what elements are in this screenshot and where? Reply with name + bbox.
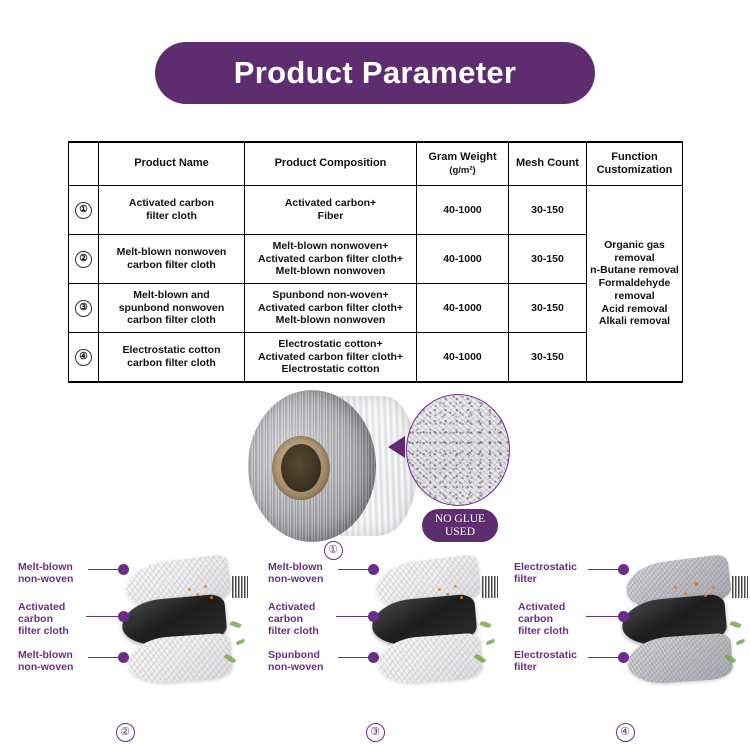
leader-dot-bottom-3 bbox=[368, 652, 379, 663]
cell-mesh-count-2: 30-150 bbox=[509, 235, 587, 284]
column-header-function-customization: Function Customization bbox=[587, 142, 683, 186]
roll-core-inner bbox=[281, 444, 321, 492]
leader-line-middle-2 bbox=[86, 616, 120, 617]
dust-particle bbox=[438, 588, 441, 591]
dust-particle bbox=[204, 585, 207, 588]
page-title: Product Parameter bbox=[234, 55, 516, 91]
dust-particle bbox=[454, 585, 457, 588]
label-bottom-4: Electrostatic filter bbox=[514, 650, 577, 674]
layer-diagram-4: Electrostatic filter Activated carbon fi… bbox=[500, 552, 750, 750]
layer-stack-2 bbox=[118, 560, 244, 682]
label-bottom-2: Melt-blown non-woven bbox=[18, 650, 73, 674]
dust-particle bbox=[694, 582, 698, 586]
leader-line-bottom-3 bbox=[338, 657, 370, 658]
label-middle-2: Activated carbon filter cloth bbox=[18, 602, 69, 637]
cell-mesh-count-1: 30-150 bbox=[509, 186, 587, 235]
column-header-product-name: Product Name bbox=[99, 142, 245, 186]
leader-dot-top-4 bbox=[618, 564, 629, 575]
diagram-caption-wrap-4: ④ bbox=[500, 722, 750, 742]
cell-mesh-count-3: 30-150 bbox=[509, 284, 587, 333]
layer-diagrams: Melt-blown non-woven Activated carbon fi… bbox=[0, 552, 750, 750]
dust-particle bbox=[712, 586, 715, 589]
cell-gram-weight-4: 40-1000 bbox=[417, 333, 509, 383]
title-banner-wrap: Product Parameter bbox=[0, 42, 750, 104]
dust-particle bbox=[684, 592, 687, 595]
table-header-row: Product Name Product Composition Gram We… bbox=[69, 142, 683, 186]
leaf-particle bbox=[729, 620, 741, 629]
leader-line-middle-4 bbox=[586, 616, 620, 617]
leaf-particle bbox=[236, 639, 246, 646]
row-index-3: ③ bbox=[69, 284, 99, 333]
cell-product-name-4: Electrostatic cotton carbon filter cloth bbox=[99, 333, 245, 383]
leader-dot-middle-3 bbox=[368, 611, 379, 622]
no-glue-line2: USED bbox=[445, 526, 475, 539]
cell-function-customization: Organic gas removal n-Butane removal For… bbox=[587, 186, 683, 383]
row-index-2: ② bbox=[69, 235, 99, 284]
cell-product-composition-3: Spunbond non-woven+ Activated carbon fil… bbox=[245, 284, 417, 333]
dust-particle bbox=[704, 594, 707, 597]
label-top-3: Melt-blown non-woven bbox=[268, 562, 323, 586]
magnifier-arrow-icon bbox=[388, 436, 405, 458]
dust-particle bbox=[188, 588, 191, 591]
label-top-2: Melt-blown non-woven bbox=[18, 562, 73, 586]
cell-product-composition-4: Electrostatic cotton+ Activated carbon f… bbox=[245, 333, 417, 383]
leader-dot-middle-2 bbox=[118, 611, 129, 622]
cell-product-name-1: Activated carbon filter cloth bbox=[99, 186, 245, 235]
product-photo-block: NO GLUE USED ① bbox=[0, 388, 750, 553]
cell-product-composition-2: Melt-blown nonwoven+ Activated carbon fi… bbox=[245, 235, 417, 284]
circled-number-4: ④ bbox=[75, 349, 92, 366]
layer-diagram-3: Melt-blown non-woven Activated carbon fi… bbox=[250, 552, 500, 750]
layer-stack-4 bbox=[618, 560, 744, 682]
column-header-index bbox=[69, 142, 99, 186]
title-banner: Product Parameter bbox=[155, 42, 595, 104]
label-middle-4: Activated carbon filter cloth bbox=[518, 602, 569, 637]
dust-particle bbox=[674, 586, 677, 589]
leaf-particle bbox=[229, 620, 241, 629]
layer-stack-3 bbox=[368, 560, 494, 682]
column-header-mesh-count: Mesh Count bbox=[509, 142, 587, 186]
diagram-caption-wrap-2: ② bbox=[0, 722, 250, 742]
row-index-4: ④ bbox=[69, 333, 99, 383]
cell-gram-weight-1: 40-1000 bbox=[417, 186, 509, 235]
leader-dot-middle-4 bbox=[618, 611, 629, 622]
cell-gram-weight-2: 40-1000 bbox=[417, 235, 509, 284]
leader-dot-bottom-2 bbox=[118, 652, 129, 663]
column-header-product-composition: Product Composition bbox=[245, 142, 417, 186]
no-glue-line1: NO GLUE bbox=[435, 513, 485, 526]
column-header-gram-weight: Gram Weight (g/m²) bbox=[417, 142, 509, 186]
cell-product-name-3: Melt-blown and spunbond nonwoven carbon … bbox=[99, 284, 245, 333]
parameter-table-wrap: Product Name Product Composition Gram We… bbox=[68, 141, 682, 383]
fabric-closeup-circle bbox=[406, 394, 510, 506]
no-glue-badge: NO GLUE USED bbox=[422, 509, 498, 542]
diagram-caption-number-4: ④ bbox=[616, 723, 635, 742]
gram-weight-unit: (g/m²) bbox=[449, 165, 475, 176]
diagram-caption-number-2: ② bbox=[116, 723, 135, 742]
fiber-edge-texture-2 bbox=[232, 576, 248, 598]
fabric-roll-image bbox=[248, 390, 418, 542]
dust-particle bbox=[196, 593, 199, 596]
cell-gram-weight-3: 40-1000 bbox=[417, 284, 509, 333]
dust-particle bbox=[460, 596, 463, 599]
circled-number-3: ③ bbox=[75, 300, 92, 317]
circled-number-1: ① bbox=[75, 202, 92, 219]
leader-dot-top-2 bbox=[118, 564, 129, 575]
leader-line-top-2 bbox=[88, 569, 120, 570]
cell-mesh-count-4: 30-150 bbox=[509, 333, 587, 383]
leader-line-bottom-4 bbox=[588, 657, 620, 658]
parameter-table: Product Name Product Composition Gram We… bbox=[68, 141, 683, 383]
leader-line-middle-3 bbox=[336, 616, 370, 617]
cell-product-name-2: Melt-blown nonwoven carbon filter cloth bbox=[99, 235, 245, 284]
leader-line-top-3 bbox=[338, 569, 370, 570]
fiber-edge-texture-4 bbox=[732, 576, 748, 598]
leader-line-top-4 bbox=[588, 569, 620, 570]
fiber-edge-texture-3 bbox=[482, 576, 498, 598]
label-middle-3: Activated carbon filter cloth bbox=[268, 602, 319, 637]
leader-dot-top-3 bbox=[368, 564, 379, 575]
leader-line-bottom-2 bbox=[88, 657, 120, 658]
leaf-particle bbox=[486, 639, 496, 646]
label-bottom-3: Spunbond non-woven bbox=[268, 650, 323, 674]
diagram-caption-wrap-3: ③ bbox=[250, 722, 500, 742]
gram-weight-label: Gram Weight bbox=[428, 151, 496, 163]
function-header-line1: Function bbox=[611, 151, 657, 163]
row-index-1: ① bbox=[69, 186, 99, 235]
layer-diagram-2: Melt-blown non-woven Activated carbon fi… bbox=[0, 552, 250, 750]
leaf-particle bbox=[479, 620, 491, 629]
leader-dot-bottom-4 bbox=[618, 652, 629, 663]
diagram-caption-number-3: ③ bbox=[366, 723, 385, 742]
dust-particle bbox=[210, 596, 213, 599]
table-row: ① Activated carbon filter cloth Activate… bbox=[69, 186, 683, 235]
label-top-4: Electrostatic filter bbox=[514, 562, 577, 586]
leaf-particle bbox=[736, 639, 746, 646]
function-header-line2: Customization bbox=[597, 164, 673, 176]
circled-number-2: ② bbox=[75, 251, 92, 268]
cell-product-composition-1: Activated carbon+ Fiber bbox=[245, 186, 417, 235]
dust-particle bbox=[446, 593, 449, 596]
